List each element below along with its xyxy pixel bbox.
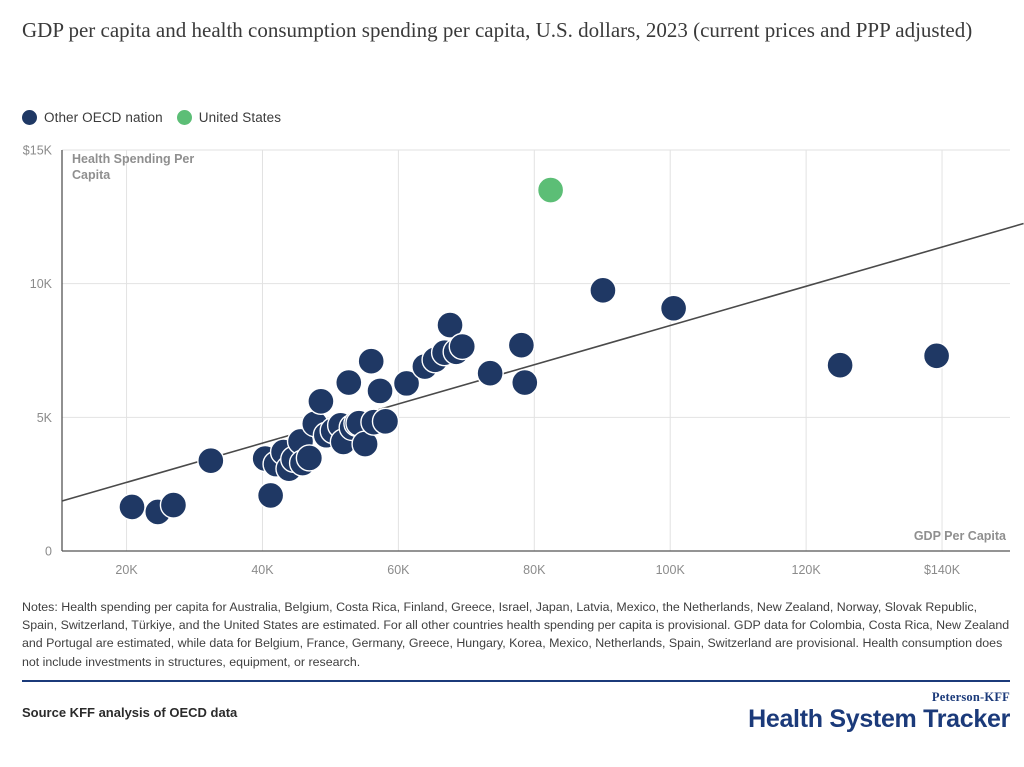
x-axis-label: GDP Per Capita (914, 529, 1007, 543)
y-axis-label-line2: Capita (72, 168, 111, 182)
y-tick-label: 10K (30, 277, 53, 291)
x-tick-label: $140K (924, 563, 961, 577)
data-point[interactable] (119, 494, 145, 520)
divider (22, 680, 1010, 682)
data-point[interactable] (258, 482, 284, 508)
data-point[interactable] (508, 332, 534, 358)
brand-top-line: Peterson-KFF (748, 690, 1010, 705)
brand-main-line: Health System Tracker (748, 705, 1010, 733)
x-tick-label: 40K (251, 563, 274, 577)
y-tick-label: $15K (23, 144, 53, 158)
y-tick-label: 5K (37, 411, 53, 425)
data-point[interactable] (661, 295, 687, 321)
brand-logo[interactable]: Peterson-KFF Health System Tracker (748, 690, 1010, 733)
plot-svg: 20K40K60K80K100K120K$140K05K10K$15K Heal… (0, 0, 1024, 600)
x-tick-label: 80K (523, 563, 546, 577)
source-credit: Source KFF analysis of OECD data (22, 705, 237, 720)
y-axis-label-line1: Health Spending Per (72, 152, 194, 166)
axis-lines (62, 150, 1010, 551)
data-point[interactable] (336, 370, 362, 396)
chart-notes: Notes: Health spending per capita for Au… (22, 598, 1010, 671)
data-point[interactable] (477, 360, 503, 386)
data-point[interactable] (924, 343, 950, 369)
data-point[interactable] (372, 408, 398, 434)
scatter-plot: 20K40K60K80K100K120K$140K05K10K$15K Heal… (0, 0, 1024, 600)
x-tick-label: 100K (656, 563, 686, 577)
data-point[interactable] (308, 388, 334, 414)
y-tick-label: 0 (45, 545, 52, 559)
data-point[interactable] (512, 370, 538, 396)
data-point[interactable] (538, 177, 564, 203)
data-point[interactable] (827, 352, 853, 378)
gridlines (62, 150, 1010, 551)
data-point[interactable] (358, 348, 384, 374)
data-point[interactable] (296, 445, 322, 471)
data-point[interactable] (449, 333, 475, 359)
data-point[interactable] (160, 492, 186, 518)
x-tick-label: 60K (387, 563, 410, 577)
data-point[interactable] (590, 277, 616, 303)
data-point[interactable] (198, 448, 224, 474)
data-point[interactable] (367, 378, 393, 404)
x-tick-label: 120K (792, 563, 822, 577)
x-tick-label: 20K (115, 563, 138, 577)
